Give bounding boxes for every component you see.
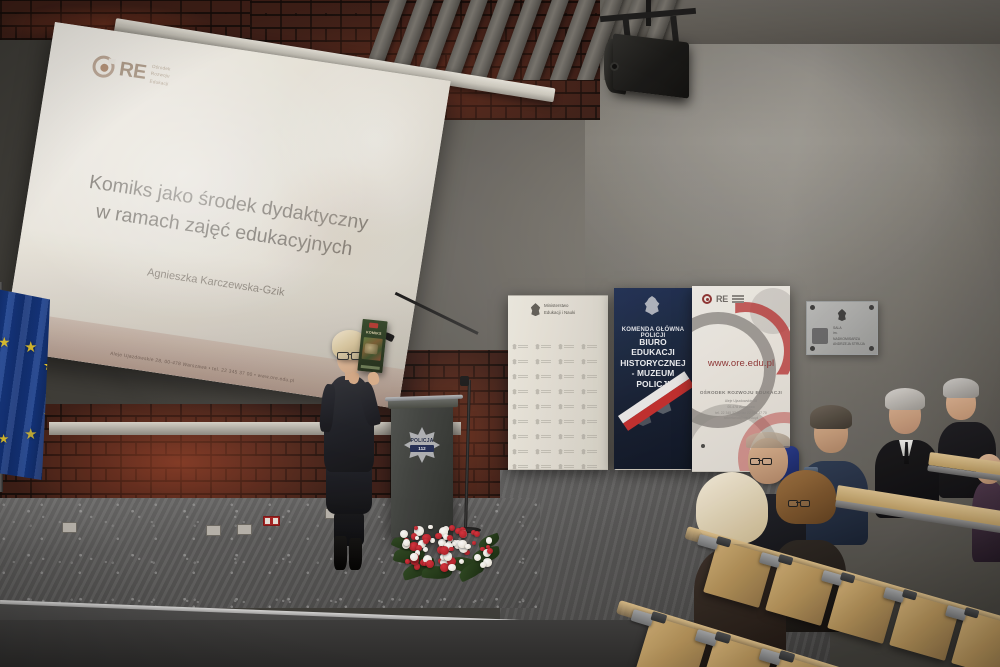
person-hair	[746, 432, 790, 448]
flower-white	[465, 544, 470, 549]
polish-eagle-icon	[837, 309, 847, 321]
ministry-eagle-mark	[535, 369, 558, 384]
flower-red	[405, 559, 410, 564]
eyeglasses-icon	[750, 458, 772, 463]
ministry-eagle-mark	[535, 429, 558, 444]
flower-white	[400, 530, 408, 538]
eu-flag-star: ★	[0, 335, 11, 349]
ministry-eagle-mark	[581, 429, 604, 444]
ministry-eagle-mark	[581, 414, 604, 429]
ministry-eagle-mark	[535, 399, 558, 414]
ministry-eagle-mark	[512, 384, 535, 399]
ministry-eagle-mark	[581, 399, 604, 414]
ministry-eagle-mark	[512, 399, 535, 414]
ministry-eagle-mark	[558, 384, 581, 399]
flower-white	[474, 554, 481, 561]
ministry-eagle-pattern	[512, 339, 604, 458]
book-publisher-mark	[369, 323, 378, 329]
wall-outlet	[206, 525, 221, 536]
ministry-eagle-mark	[558, 429, 581, 444]
book-title: KOMIKS	[361, 330, 386, 337]
ministry-header-line2: Edukacji i Nauki	[544, 310, 575, 317]
ministry-eagle-mark	[558, 369, 581, 384]
flower-red	[426, 560, 434, 568]
flower-white	[448, 564, 456, 572]
flower-white	[486, 537, 493, 544]
wall-outlet	[62, 522, 77, 533]
ministry-eagle-mark	[581, 384, 604, 399]
ministry-header-line1: Ministerstwo	[544, 303, 575, 310]
ministry-eagle-mark	[558, 339, 581, 354]
ministry-eagle-mark	[512, 354, 535, 369]
eu-flag-star: ★	[0, 433, 9, 446]
flower-red	[435, 533, 441, 539]
eu-flag-star: ★	[24, 341, 37, 356]
flower-arrangement	[392, 518, 500, 580]
ministry-eagle-mark	[581, 444, 604, 459]
plaque-line4: ANDRZEJA STRUJA	[833, 342, 865, 347]
flower-white	[430, 538, 435, 543]
ore-banner-logo: RE	[702, 294, 744, 304]
ministry-eagle-mark	[558, 444, 581, 459]
flower-red	[449, 547, 454, 552]
flower-red	[474, 531, 480, 537]
ministry-eagle-mark	[558, 414, 581, 429]
ore-banner-url: www.ore.edu.pl	[692, 358, 790, 369]
ore-logo-bars-icon	[732, 295, 744, 303]
police-star-badge-icon: POLICJA 112	[404, 427, 440, 463]
wall-outlet	[237, 524, 252, 535]
badge-top-text: POLICJA	[408, 438, 436, 444]
flower-red	[459, 530, 467, 538]
flower-red	[487, 548, 493, 554]
flower-white	[480, 562, 486, 568]
flower-white	[415, 536, 419, 540]
plaque-text: SALA im. NADKOMISARZA ANDRZEJA STRUJA	[833, 326, 865, 348]
ministry-eagle-mark	[535, 354, 558, 369]
ministry-eagle-mark	[581, 339, 604, 354]
flower-red	[449, 525, 455, 531]
ministry-eagle-mark	[535, 384, 558, 399]
flower-red	[472, 541, 477, 546]
ministry-eagle-mark	[535, 444, 558, 459]
ore-banner-org: OŚRODEK ROZWOJU EDUKACJI	[692, 390, 790, 395]
eu-flag-star: ★	[24, 427, 38, 442]
police-banner-line3: EDUKACJI HISTORYCZNEJ	[614, 347, 692, 368]
ministry-eagle-mark	[512, 369, 535, 384]
eu-flag: ★★★★★★★	[0, 288, 50, 480]
police-banner-line2: BIURO	[614, 337, 692, 347]
police-eagle-icon	[644, 296, 660, 315]
polish-eagle-icon	[530, 303, 541, 316]
eyeglasses-icon	[788, 500, 810, 505]
flower-white	[403, 539, 410, 546]
ministry-eagle-mark	[581, 354, 604, 369]
flower-white	[423, 547, 428, 552]
person-hair	[810, 405, 852, 429]
ore-banner-wordmark: RE	[716, 294, 728, 304]
ore-banner-address: Aleje Ujazdowskie 28 00-478 Warszawa tel…	[692, 399, 790, 422]
ministry-eagle-mark	[535, 339, 558, 354]
banner-police-headquarters: KOMENDA GŁÓWNA POLICJI BIURO EDUKACJI HI…	[614, 288, 692, 470]
flower-white	[410, 553, 418, 561]
memorial-plaque: SALA im. NADKOMISARZA ANDRZEJA STRUJA	[806, 301, 878, 355]
flower-white	[428, 525, 432, 529]
ministry-eagle-mark	[558, 354, 581, 369]
presenter: KOMIKS	[318, 330, 396, 570]
ministry-eagle-mark	[558, 399, 581, 414]
person-hair	[943, 378, 979, 398]
ore-ring-icon	[702, 294, 712, 304]
person-hair	[885, 388, 925, 410]
ministry-eagle-mark	[581, 369, 604, 384]
projection-screen: RE Ośrodek Rozwoju Edukacji Komiks jako …	[55, 22, 510, 422]
badge-number: 112	[410, 445, 434, 452]
flower-red	[414, 526, 419, 531]
plaque-emblem	[812, 328, 828, 344]
ministry-eagle-mark	[512, 414, 535, 429]
ministry-eagle-mark	[512, 429, 535, 444]
comic-book: KOMIKS	[357, 319, 387, 373]
flower-red	[423, 538, 429, 544]
auditorium-photo: RE Ośrodek Rozwoju Edukacji Komiks jako …	[0, 0, 1000, 667]
ministry-eagle-mark	[512, 444, 535, 459]
banner-ministry-of-education: Ministerstwo Edukacji i Nauki	[508, 295, 608, 470]
ministry-eagle-mark	[512, 339, 535, 354]
ministry-eagle-mark	[535, 414, 558, 429]
wall-outlet-red	[263, 516, 280, 526]
